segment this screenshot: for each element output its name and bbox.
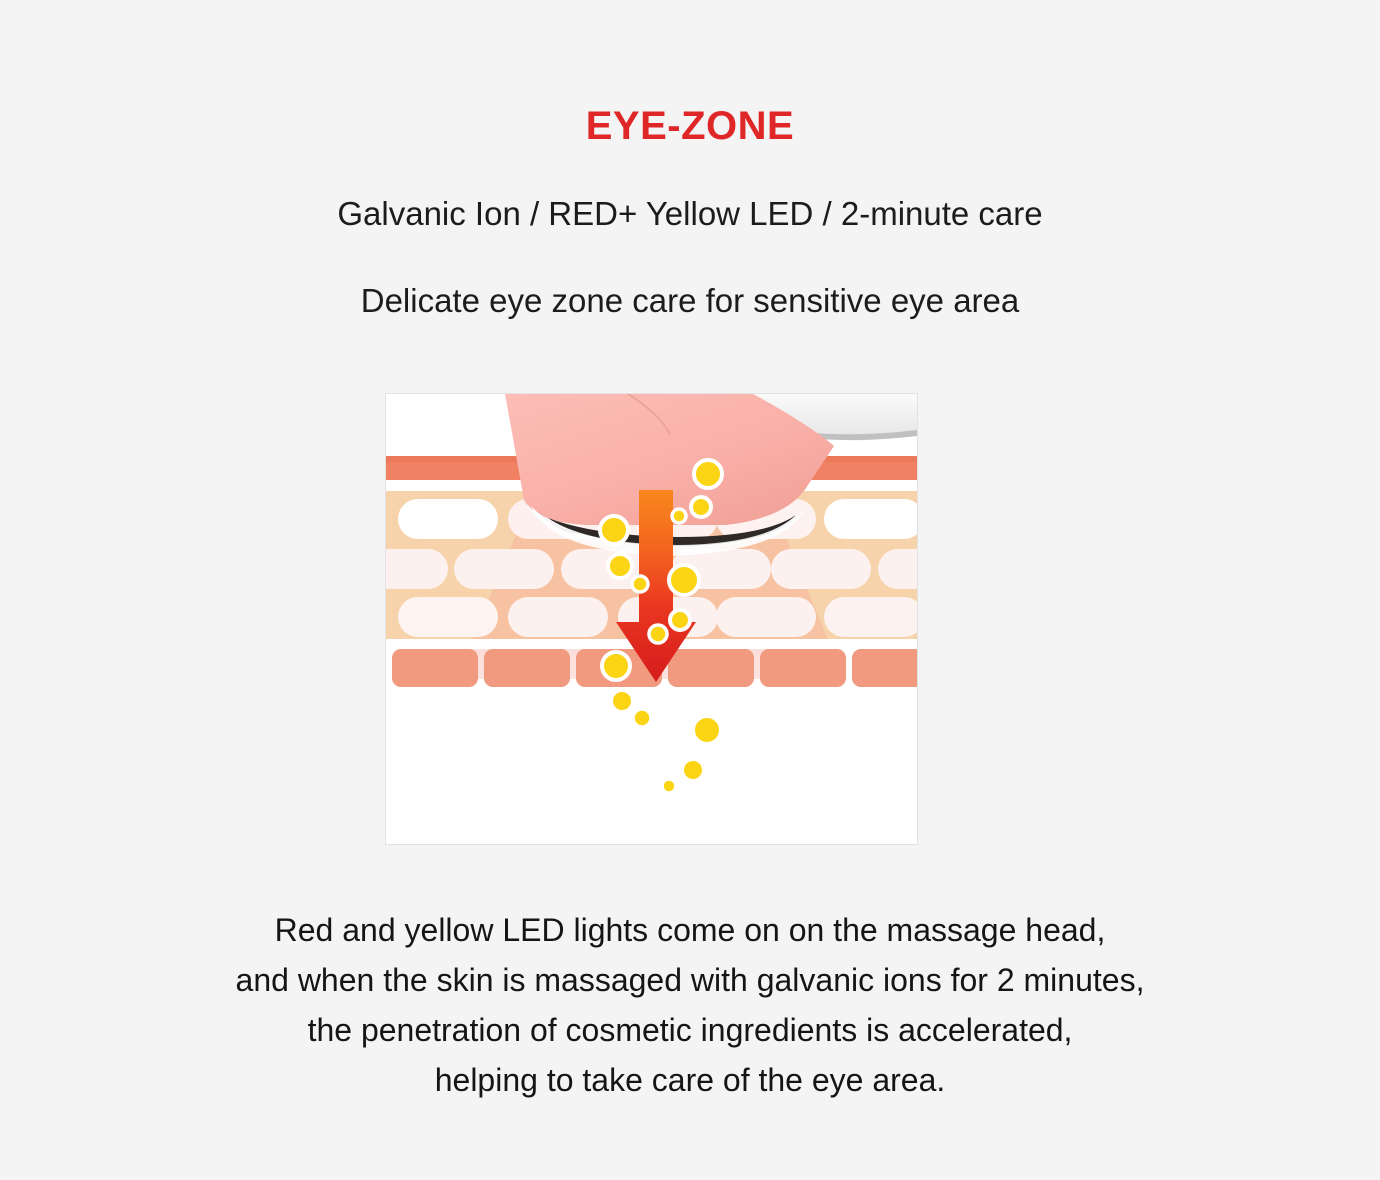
skin-penetration-illustration <box>386 394 917 844</box>
product-feature-panel: EYE-ZONE Galvanic Ion / RED+ Yellow LED … <box>0 0 1380 1180</box>
paragraph-line: helping to take care of the eye area. <box>0 1055 1380 1105</box>
page-title: EYE-ZONE <box>0 104 1380 148</box>
feature-spec-line: Galvanic Ion / RED+ Yellow LED / 2-minut… <box>0 194 1380 234</box>
feature-explanation-paragraph: Red and yellow LED lights come on on the… <box>0 905 1380 1105</box>
heading-block: EYE-ZONE Galvanic Ion / RED+ Yellow LED … <box>0 104 1380 320</box>
paragraph-line: the penetration of cosmetic ingredients … <box>0 1005 1380 1055</box>
paragraph-line: and when the skin is massaged with galva… <box>0 955 1380 1005</box>
paragraph-line: Red and yellow LED lights come on on the… <box>0 905 1380 955</box>
skin-penetration-diagram <box>385 393 918 845</box>
feature-description-line: Delicate eye zone care for sensitive eye… <box>0 281 1380 321</box>
